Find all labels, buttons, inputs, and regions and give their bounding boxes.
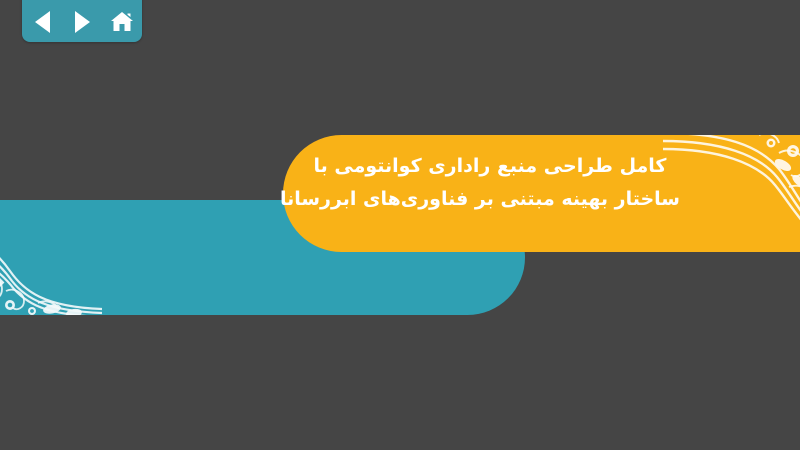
slide-title: کامل طراحی منبع راداری کوانتومی با ساختا… xyxy=(300,150,680,216)
forward-button[interactable] xyxy=(68,8,96,36)
title-line-2: ساختار بهینه مبتنی بر فناوری‌های ابررسان… xyxy=(300,183,680,216)
arabesque-ornament-teal xyxy=(0,200,102,315)
presentation-slide: کامل طراحی منبع راداری کوانتومی با ساختا… xyxy=(0,0,800,450)
back-icon xyxy=(35,11,50,33)
back-button[interactable] xyxy=(28,8,56,36)
home-icon xyxy=(110,11,134,33)
home-button[interactable] xyxy=(108,8,136,36)
forward-icon xyxy=(75,11,90,33)
arabesque-ornament-orange xyxy=(663,135,800,252)
title-line-1: کامل طراحی منبع راداری کوانتومی با xyxy=(300,150,680,183)
navigation-toolbar xyxy=(22,0,142,42)
